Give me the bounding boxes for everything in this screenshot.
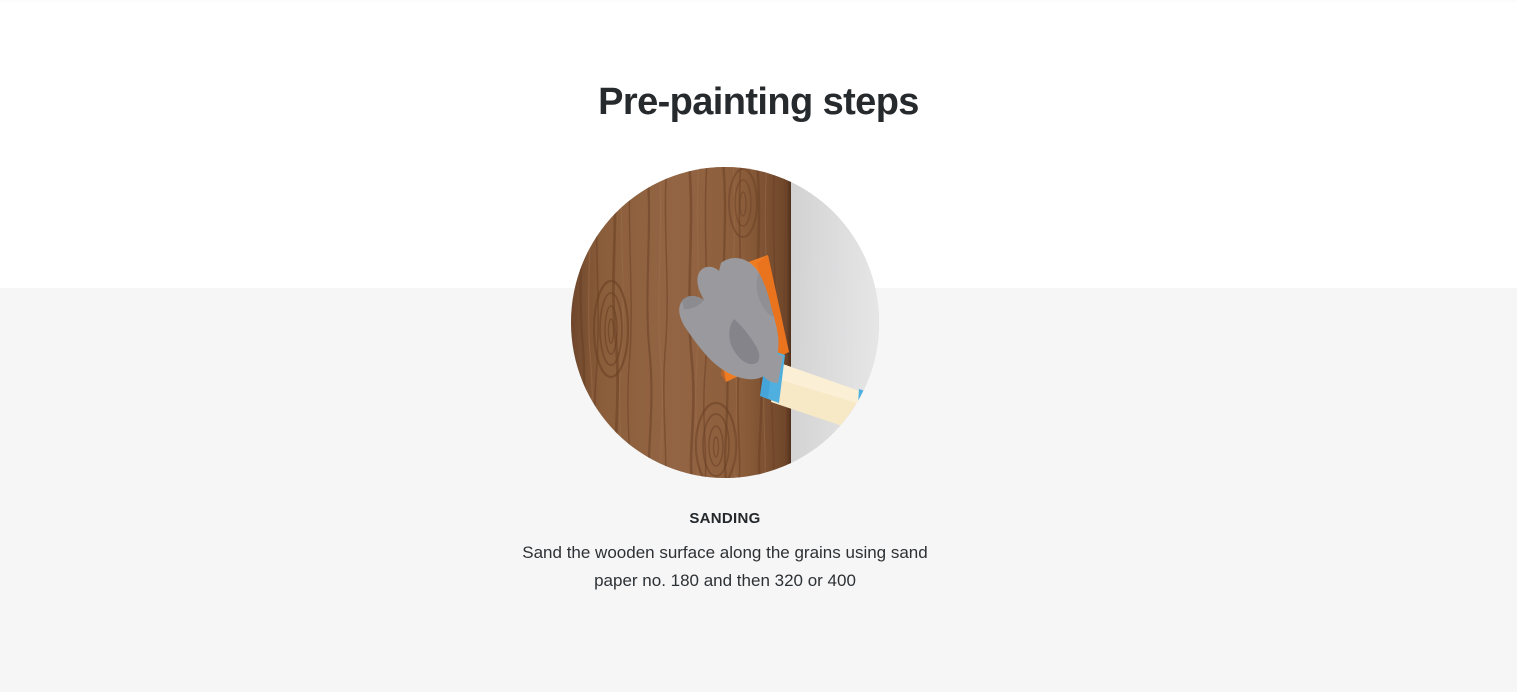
step-description: Sand the wooden surface along the grains…: [505, 539, 945, 594]
step-name: SANDING: [505, 510, 945, 527]
sanding-illustration: [571, 167, 879, 478]
step-card: SANDING Sand the wooden surface along th…: [505, 160, 945, 594]
top-hairline: [0, 0, 1517, 2]
page-root: Pre-painting steps: [0, 0, 1517, 692]
gloved-hand-illustration: [571, 167, 879, 478]
illustration-circle: [571, 167, 879, 478]
forearm-icon: [771, 362, 871, 435]
page-title: Pre-painting steps: [0, 79, 1517, 127]
